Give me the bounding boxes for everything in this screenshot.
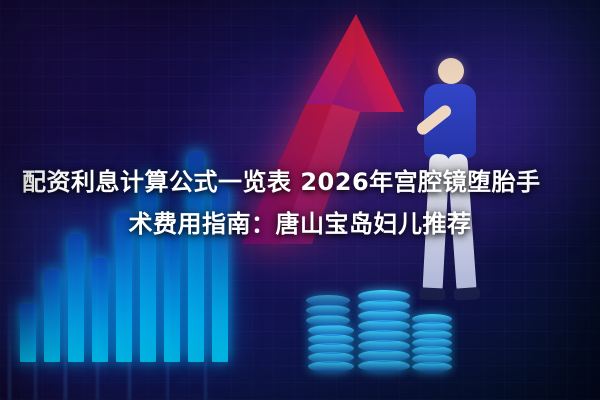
coin xyxy=(306,305,350,316)
figure-torso xyxy=(424,84,476,158)
cover-image: 配资利息计算公式一览表 2026年宫腔镜堕胎手 术费用指南：唐山宝岛妇儿推荐 xyxy=(0,0,600,400)
coin xyxy=(306,295,350,306)
figure-head xyxy=(438,58,464,84)
figure-arm xyxy=(415,103,454,137)
coin xyxy=(306,315,350,326)
headline-text: 配资利息计算公式一览表 2026年宫腔镜堕胎手 术费用指南：唐山宝岛妇儿推荐 xyxy=(0,153,600,257)
chart-bar xyxy=(44,270,60,362)
chart-bar xyxy=(20,304,36,362)
figure-shoe xyxy=(419,287,446,300)
headline-line-1: 配资利息计算公式一览表 2026年宫腔镜堕胎手 xyxy=(22,161,578,203)
figure-shoe xyxy=(453,287,480,301)
headline-line-2: 术费用指南：唐山宝岛妇儿推荐 xyxy=(22,203,578,245)
light-streak xyxy=(8,280,11,400)
coin xyxy=(308,325,354,336)
chart-bar xyxy=(92,258,108,362)
